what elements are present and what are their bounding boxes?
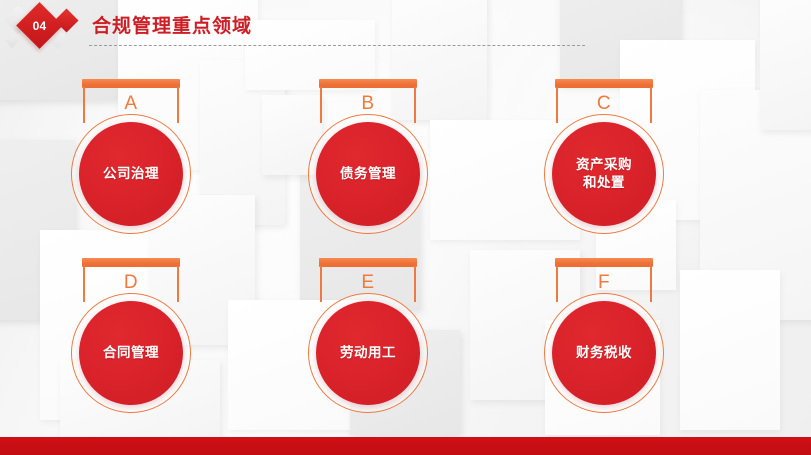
node-e-bar (319, 258, 417, 267)
node-d-bar (82, 258, 180, 267)
node-e-circle[interactable]: 劳动用工 (316, 301, 420, 405)
node-b[interactable]: B 债务管理 (288, 79, 448, 264)
node-f-circle[interactable]: 财务税收 (552, 301, 656, 405)
node-c-circle[interactable]: 资产采购 和处置 (552, 122, 656, 226)
node-b-bar (319, 79, 417, 88)
node-e[interactable]: E 劳动用工 (288, 258, 448, 443)
node-c[interactable]: C 资产采购 和处置 (524, 79, 684, 264)
node-b-circle[interactable]: 债务管理 (316, 122, 420, 226)
node-b-label: 债务管理 (340, 165, 396, 183)
slide-canvas: 04 合规管理重点领域 A 公司治理 B 债务管理 (0, 0, 811, 455)
node-e-label: 劳动用工 (340, 344, 396, 362)
node-a-bar (82, 79, 180, 88)
node-grid: A 公司治理 B 债务管理 C 资产采购 和处置 (0, 0, 811, 455)
node-d-circle[interactable]: 合同管理 (79, 301, 183, 405)
node-f[interactable]: F 财务税收 (524, 258, 684, 443)
node-f-bar (555, 258, 653, 267)
node-d[interactable]: D 合同管理 (51, 258, 211, 443)
node-a[interactable]: A 公司治理 (51, 79, 211, 264)
node-c-bar (555, 79, 653, 88)
node-a-circle[interactable]: 公司治理 (79, 122, 183, 226)
node-c-label: 资产采购 和处置 (576, 156, 632, 192)
footer-accent-bar (0, 437, 811, 455)
node-d-label: 合同管理 (103, 344, 159, 362)
node-a-label: 公司治理 (103, 165, 159, 183)
node-f-label: 财务税收 (576, 344, 632, 362)
